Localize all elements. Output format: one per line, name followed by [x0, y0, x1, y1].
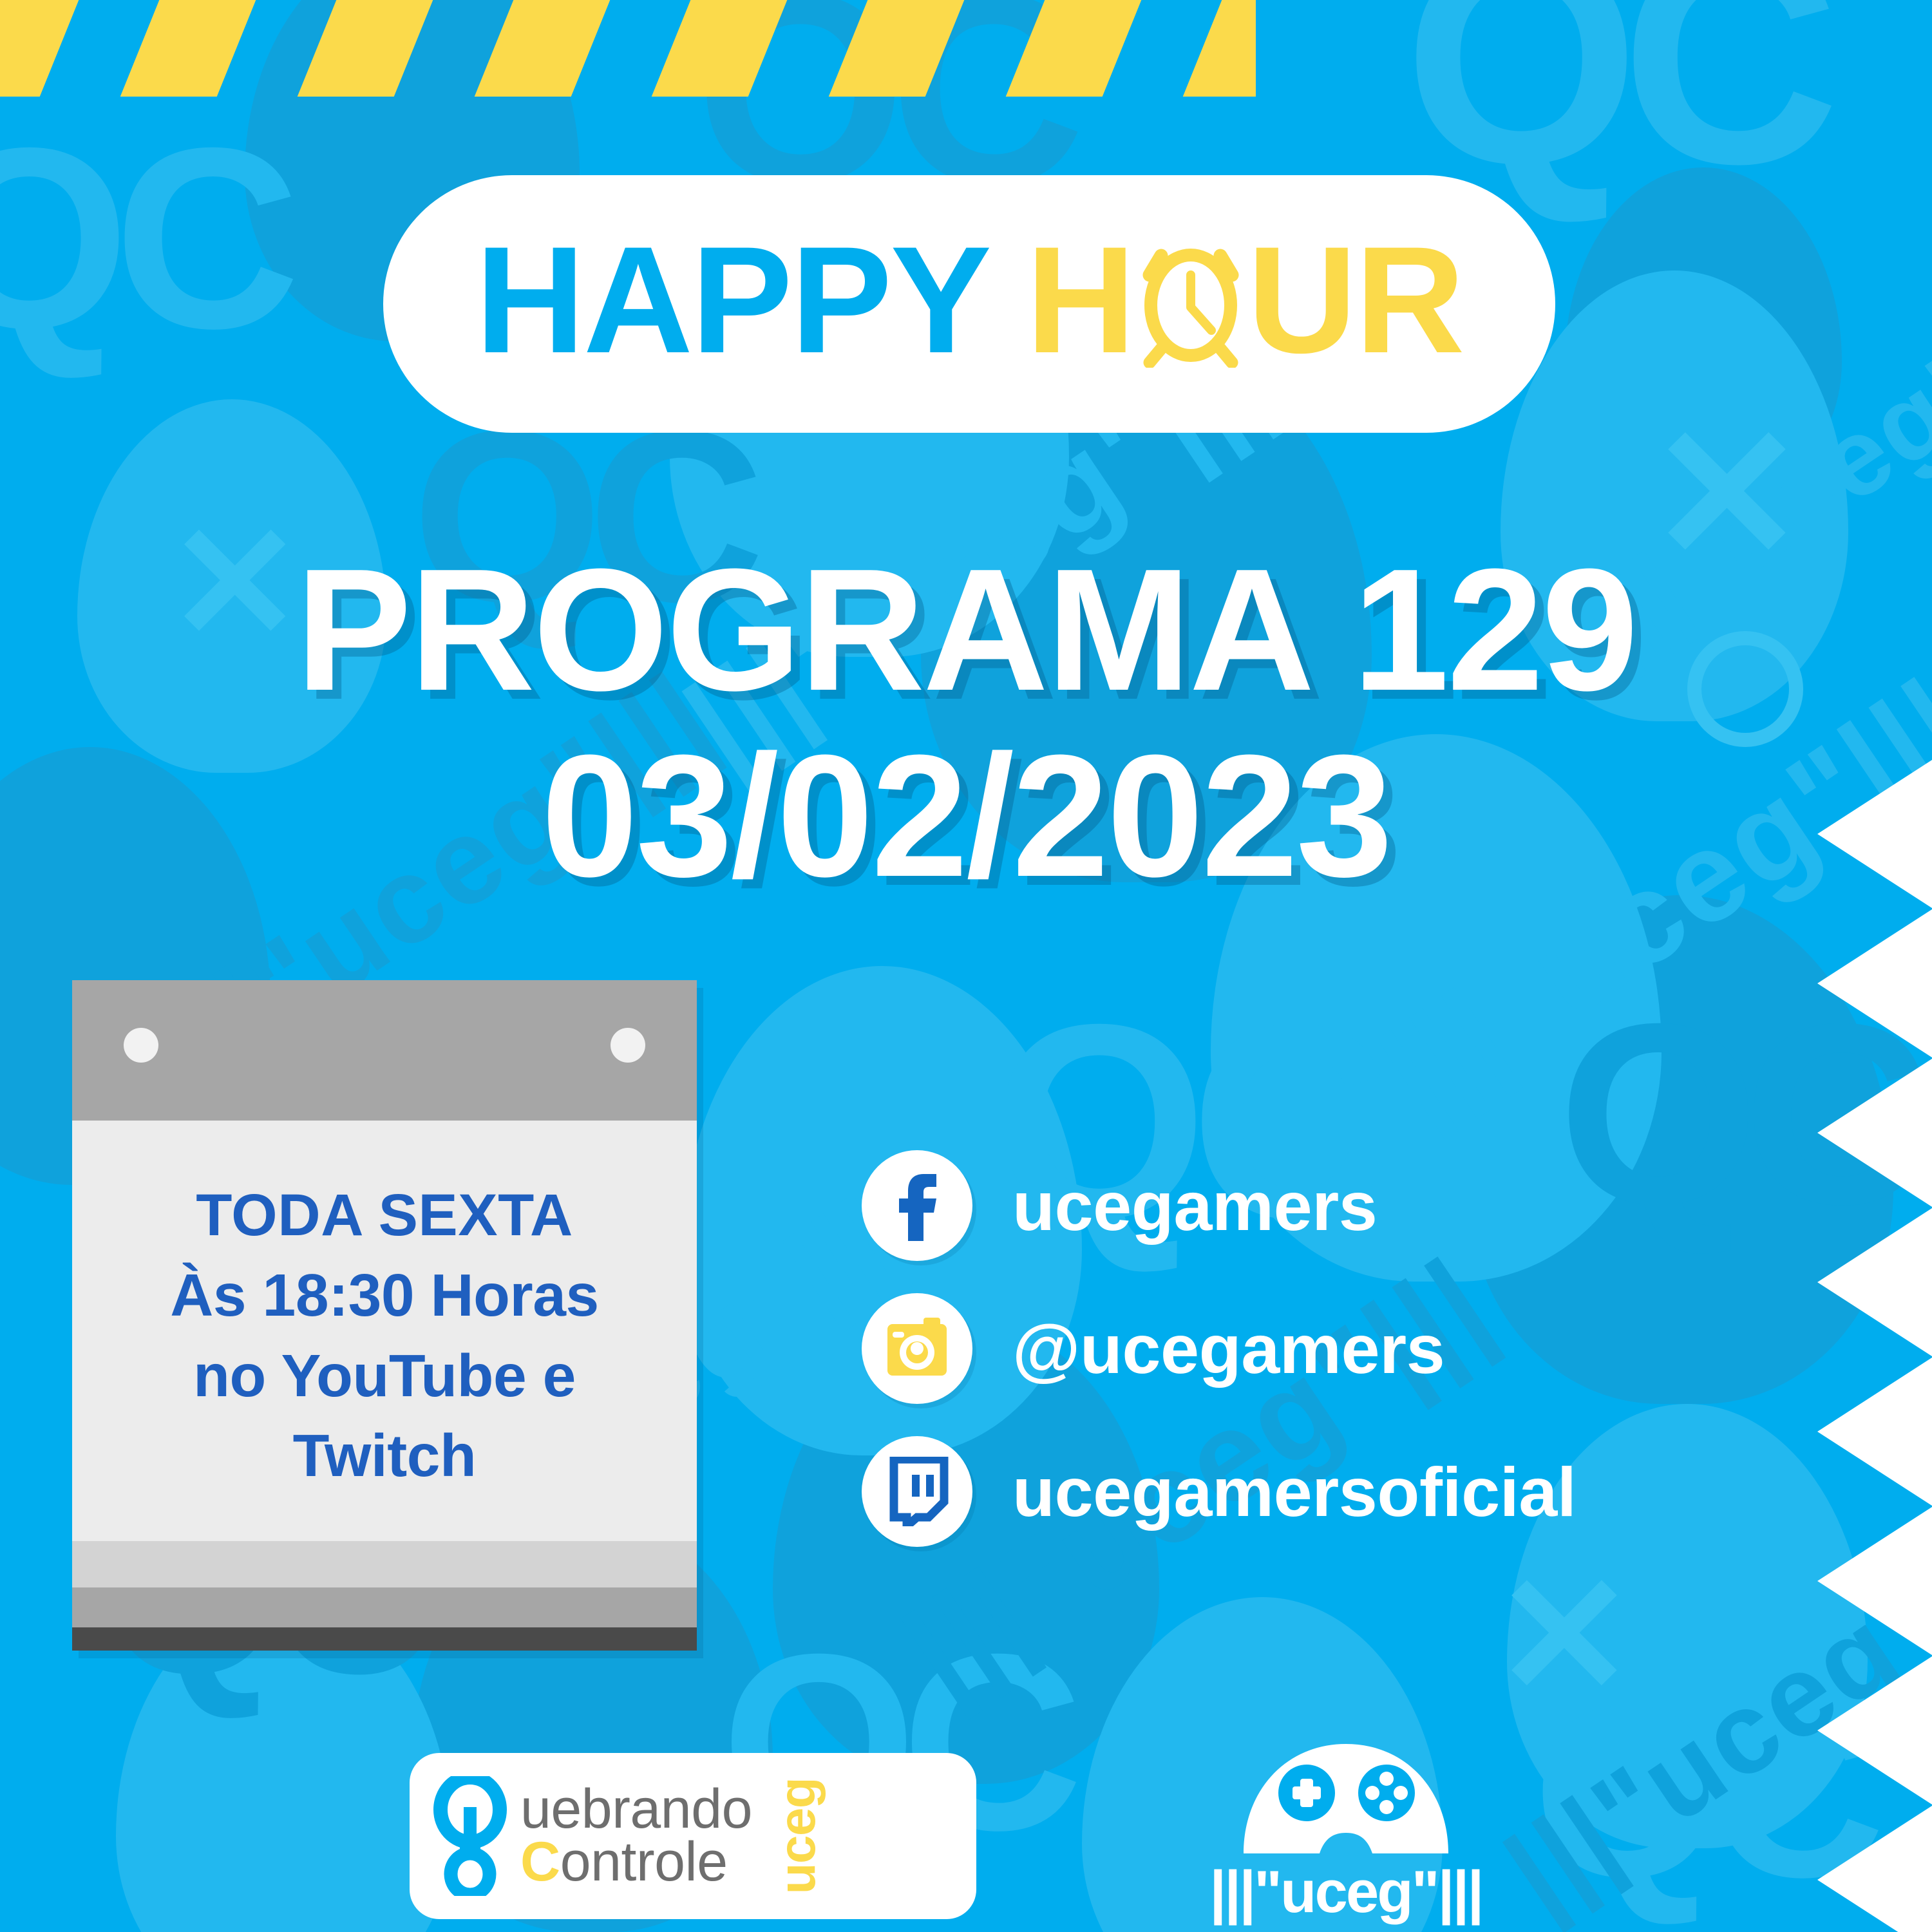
social-row-facebook[interactable]: ucegamers: [862, 1150, 1577, 1261]
banner-hour-suffix: UR: [1247, 224, 1463, 376]
page-title: PROGRAMA 129 03/02/2023: [0, 538, 1932, 910]
social-handle-twitch: ucegamersoficial: [1012, 1452, 1577, 1532]
poster-canvas: QC QC QC QC QC QC QC QC QC |||"uceg"||| …: [0, 0, 1932, 1932]
qc-word-quebrando: uebrando: [520, 1783, 752, 1836]
uceg-wordmark: |||"uceg"|||: [1209, 1862, 1482, 1922]
calendar-line-4: Twitch: [91, 1416, 677, 1496]
headline-date: 03/02/2023: [0, 724, 1932, 910]
right-edge-zigzag: [1816, 760, 1932, 1932]
calendar-foot-bar: [72, 1627, 697, 1651]
qc-word-controle-c: C: [520, 1831, 560, 1893]
facebook-icon[interactable]: [862, 1150, 972, 1261]
social-row-twitch[interactable]: ucegamersoficial: [862, 1436, 1577, 1547]
calendar-header: [72, 980, 697, 1121]
social-row-instagram[interactable]: @ucegamers: [862, 1293, 1577, 1404]
qc-word-controle-rest: ontrole: [560, 1831, 728, 1893]
calendar-ring-hole-left: [124, 1028, 158, 1063]
broken-controller-mark: [431, 1776, 509, 1896]
calendar-line-2: Às 18:30 Horas: [91, 1255, 677, 1336]
qc-wordmark: uebrando Controle: [520, 1783, 752, 1888]
alarm-clock-icon: [1134, 224, 1247, 376]
uceg-logo: |||"uceg"|||: [1211, 1743, 1481, 1932]
calendar-band-light: [72, 1541, 697, 1587]
calendar-line-3: no YouTube e: [91, 1336, 677, 1416]
calendar-band-mid: [72, 1587, 697, 1627]
banner-hour-text: H UR: [1026, 224, 1463, 376]
banner-happy-text: HAPPY: [475, 224, 990, 376]
social-handle-instagram: @ucegamers: [1012, 1309, 1444, 1389]
calendar-ring-hole-right: [611, 1028, 645, 1063]
happy-hour-banner: HAPPY H UR: [383, 175, 1555, 433]
calendar-line-1: TODA SEXTA: [91, 1176, 677, 1255]
qc-word-controle: Controle: [520, 1836, 752, 1889]
social-links-list: ucegamers @ucegamers: [862, 1150, 1577, 1547]
qc-side-uceg: uceg: [768, 1778, 827, 1894]
banner-hour-prefix: H: [1026, 224, 1134, 376]
twitch-icon[interactable]: [862, 1436, 972, 1547]
headline-program: PROGRAMA 129: [0, 538, 1932, 724]
calendar-body: TODA SEXTA Às 18:30 Horas no YouTube e T…: [72, 1121, 697, 1541]
quebrando-controle-logo: uebrando Controle uceg: [410, 1753, 976, 1919]
gamepad-icon: [1240, 1743, 1452, 1859]
social-handle-facebook: ucegamers: [1012, 1166, 1377, 1246]
top-diagonal-stripes: [0, 0, 1256, 97]
schedule-calendar-card: TODA SEXTA Às 18:30 Horas no YouTube e T…: [72, 980, 697, 1651]
instagram-icon[interactable]: [862, 1293, 972, 1404]
